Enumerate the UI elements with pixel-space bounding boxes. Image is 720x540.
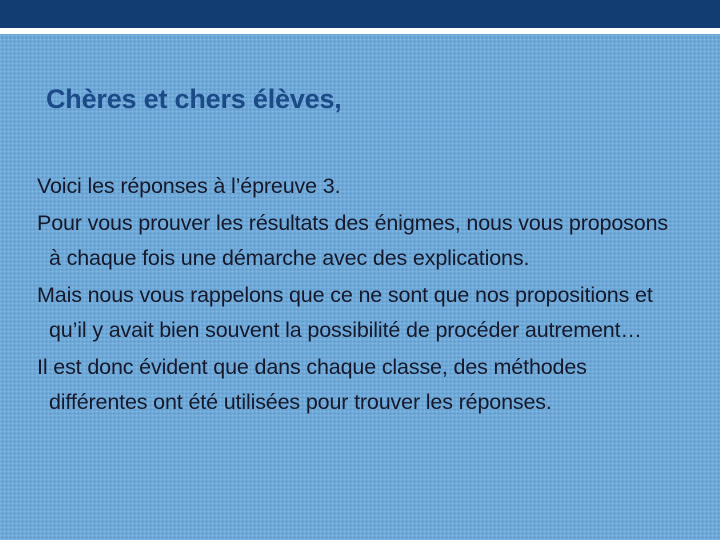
slide-content-area: Chères et chers élèves, Voici les répons…	[0, 34, 720, 540]
paragraph-2: Pour vous prouver les résultats des énig…	[37, 206, 677, 276]
paragraph-3: Mais nous vous rappelons que ce ne sont …	[37, 278, 677, 348]
paragraph-1: Voici les réponses à l’épreuve 3.	[37, 169, 677, 204]
page-title: Chères et chers élèves,	[46, 84, 686, 115]
top-decorative-band	[0, 0, 720, 28]
paragraph-4: Il est donc évident que dans chaque clas…	[37, 350, 677, 420]
body-text-block: Voici les réponses à l’épreuve 3. Pour v…	[37, 169, 677, 420]
slide-canvas: Chères et chers élèves, Voici les répons…	[0, 0, 720, 540]
